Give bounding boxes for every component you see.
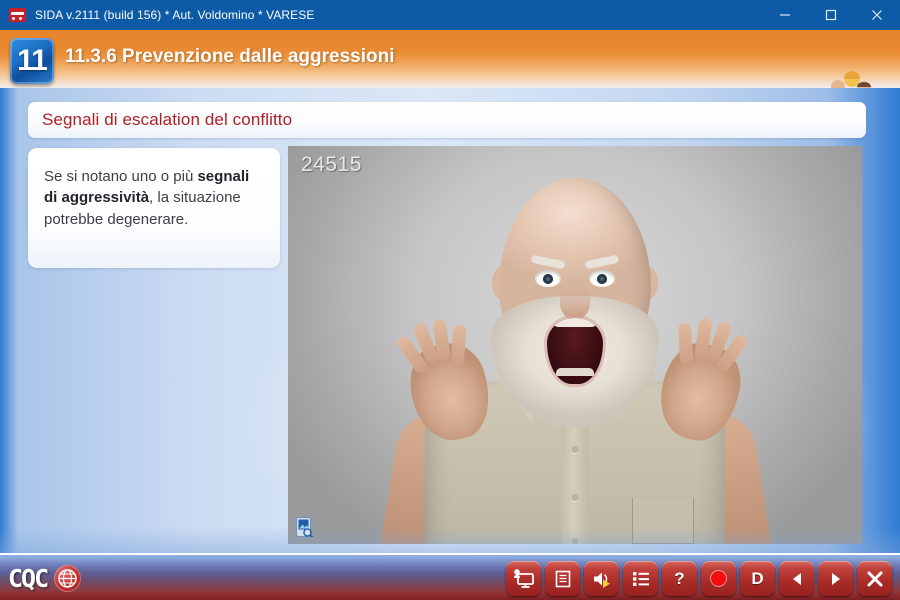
help-button[interactable]: ?: [662, 561, 697, 596]
people-group-icon: [824, 68, 880, 88]
media-panel[interactable]: 24515: [288, 146, 862, 544]
window-controls: [762, 0, 900, 30]
next-button[interactable]: [818, 561, 853, 596]
module-number-badge: 11: [10, 38, 54, 84]
application-window: SIDA v.2111 (build 156) * Aut. Voldomino…: [0, 0, 900, 600]
action-toolbar: ? D: [506, 560, 892, 597]
previous-button[interactable]: [779, 561, 814, 596]
bottom-toolbar: CQC: [0, 553, 900, 600]
dictionary-label: D: [751, 570, 763, 587]
document-button[interactable]: [545, 561, 580, 596]
help-label: ?: [674, 570, 684, 587]
explanation-card: Se si notano uno o più segnali di aggres…: [28, 148, 280, 268]
module-number: 11: [17, 46, 47, 76]
lesson-photo: [288, 146, 862, 544]
page-title: 11.3.6 Prevenzione dalle aggressioni: [65, 46, 395, 68]
image-zoom-icon[interactable]: [296, 517, 314, 537]
close-window-button[interactable]: [854, 0, 900, 30]
window-title: SIDA v.2111 (build 156) * Aut. Voldomino…: [35, 8, 315, 22]
explanation-line-1: Se si notano uno o più: [44, 168, 193, 185]
module-header: 11 11.3.6 Prevenzione dalle aggressioni: [0, 30, 900, 88]
maximize-button[interactable]: [808, 0, 854, 30]
content-page: Segnali di escalation del conflitto Se s…: [0, 88, 900, 553]
section-title: Segnali di escalation del conflitto: [42, 110, 292, 130]
globe-icon[interactable]: [54, 565, 81, 592]
app-car-icon: [9, 8, 26, 22]
dictionary-button[interactable]: D: [740, 561, 775, 596]
record-button[interactable]: [701, 561, 736, 596]
record-dot-icon: [711, 571, 726, 586]
screen-button[interactable]: [506, 561, 541, 596]
list-button[interactable]: [623, 561, 658, 596]
title-bar: SIDA v.2111 (build 156) * Aut. Voldomino…: [0, 0, 900, 30]
media-number: 24515: [301, 153, 362, 177]
audio-button[interactable]: [584, 561, 619, 596]
brand-logo: CQC: [8, 561, 116, 595]
brand-text: CQC: [8, 564, 47, 593]
close-button[interactable]: [857, 561, 892, 596]
minimize-button[interactable]: [762, 0, 808, 30]
section-title-banner: Segnali di escalation del conflitto: [28, 102, 866, 138]
